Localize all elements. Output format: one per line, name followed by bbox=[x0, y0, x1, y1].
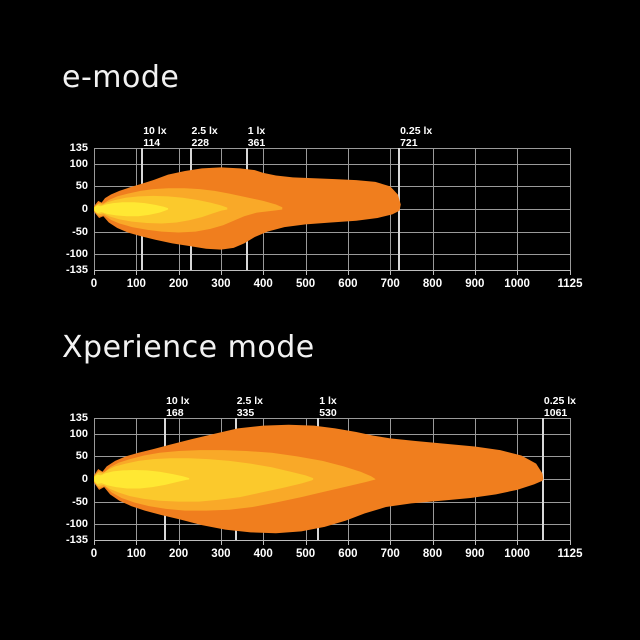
y-axis-tick-label: 0 bbox=[82, 473, 88, 485]
y-axis-tick-label: 50 bbox=[76, 450, 88, 462]
y-axis-labels-0: 135100500-50-100-135 bbox=[0, 148, 88, 270]
lux-value: 10 lx bbox=[166, 396, 189, 408]
y-axis-tick-label: 135 bbox=[70, 142, 88, 154]
x-axis-tick-label: 400 bbox=[254, 278, 273, 290]
y-axis-tick-label: 0 bbox=[82, 203, 88, 215]
x-axis-labels-0: 010020030040050060070080090010001125 bbox=[94, 271, 571, 291]
beam-pattern-0 bbox=[94, 148, 570, 270]
lux-value: 2.5 lx bbox=[192, 126, 218, 138]
y-axis-tick-label: -100 bbox=[66, 248, 88, 260]
lux-marker-label: 1 lx530 bbox=[319, 396, 337, 419]
x-axis-tick-label: 300 bbox=[211, 548, 230, 560]
y-axis-tick-label: -135 bbox=[66, 264, 88, 276]
x-axis-tick-label: 600 bbox=[338, 548, 357, 560]
x-axis-labels-1: 010020030040050060070080090010001125 bbox=[94, 541, 571, 561]
y-axis-tick-label: 100 bbox=[70, 158, 88, 170]
x-axis-tick-label: 1000 bbox=[504, 548, 530, 560]
x-axis-tick-label: 900 bbox=[465, 548, 484, 560]
plot-e-mode: 10 lx1142.5 lx2281 lx3610.25 lx721 13510… bbox=[0, 130, 640, 290]
plot-xperience-mode: 10 lx1682.5 lx3351 lx5300.25 lx1061 1351… bbox=[0, 400, 640, 560]
x-axis-tick-label: 100 bbox=[127, 278, 146, 290]
chart-title-e-mode: e-mode bbox=[62, 60, 179, 95]
y-axis-tick-label: 50 bbox=[76, 180, 88, 192]
x-axis-tick-label: 100 bbox=[127, 548, 146, 560]
x-axis-tick-label: 500 bbox=[296, 278, 315, 290]
lux-value: 0.25 lx bbox=[400, 126, 432, 138]
lux-value: 1 lx bbox=[319, 396, 337, 408]
y-axis-tick-label: -100 bbox=[66, 518, 88, 530]
y-axis-tick-label: -50 bbox=[72, 496, 88, 508]
lux-marker-label: 0.25 lx1061 bbox=[544, 396, 576, 419]
lux-marker-label: 2.5 lx228 bbox=[192, 126, 218, 149]
lux-marker-label: 1 lx361 bbox=[248, 126, 266, 149]
y-axis-tick-label: -135 bbox=[66, 534, 88, 546]
y-axis-tick-label: 100 bbox=[70, 428, 88, 440]
beam-pattern-1 bbox=[94, 418, 570, 540]
lux-value: 0.25 lx bbox=[544, 396, 576, 408]
lux-marker-label: 10 lx168 bbox=[166, 396, 189, 419]
x-axis-tick-label: 500 bbox=[296, 548, 315, 560]
x-axis-tick-label: 1000 bbox=[504, 278, 530, 290]
x-axis-tick-label: 800 bbox=[423, 548, 442, 560]
lux-value: 10 lx bbox=[143, 126, 166, 138]
lux-marker-label: 0.25 lx721 bbox=[400, 126, 432, 149]
y-axis-tick-label: 135 bbox=[70, 412, 88, 424]
x-axis-tick-label: 400 bbox=[254, 548, 273, 560]
x-axis-tick-label: 700 bbox=[381, 278, 400, 290]
x-axis-tick-label: 200 bbox=[169, 278, 188, 290]
y-axis-tick-label: -50 bbox=[72, 226, 88, 238]
lux-marker-label: 2.5 lx335 bbox=[237, 396, 263, 419]
lux-marker-labels-1: 10 lx1682.5 lx3351 lx5300.25 lx1061 bbox=[94, 396, 571, 420]
x-axis-tick-label: 200 bbox=[169, 548, 188, 560]
lux-value: 1 lx bbox=[248, 126, 266, 138]
lux-value: 2.5 lx bbox=[237, 396, 263, 408]
x-axis-tick-label: 700 bbox=[381, 548, 400, 560]
x-axis-tick-label: 900 bbox=[465, 278, 484, 290]
x-axis-tick-label: 300 bbox=[211, 278, 230, 290]
x-axis-tick-label: 0 bbox=[91, 548, 97, 560]
x-axis-tick-label: 1125 bbox=[558, 278, 583, 290]
x-axis-tick-label: 800 bbox=[423, 278, 442, 290]
x-axis-tick-label: 1125 bbox=[558, 548, 583, 560]
x-axis-tick-label: 0 bbox=[91, 278, 97, 290]
lux-marker-label: 10 lx114 bbox=[143, 126, 166, 149]
lux-marker-labels-0: 10 lx1142.5 lx2281 lx3610.25 lx721 bbox=[94, 126, 571, 150]
beam-pattern-page: e-mode 10 lx1142.5 lx2281 lx3610.25 lx72… bbox=[0, 0, 640, 640]
y-axis-labels-1: 135100500-50-100-135 bbox=[0, 418, 88, 540]
x-axis-tick-label: 600 bbox=[338, 278, 357, 290]
gridline-vertical bbox=[570, 418, 571, 540]
gridline-vertical bbox=[570, 148, 571, 270]
chart-title-xperience-mode: Xperience mode bbox=[62, 330, 315, 365]
